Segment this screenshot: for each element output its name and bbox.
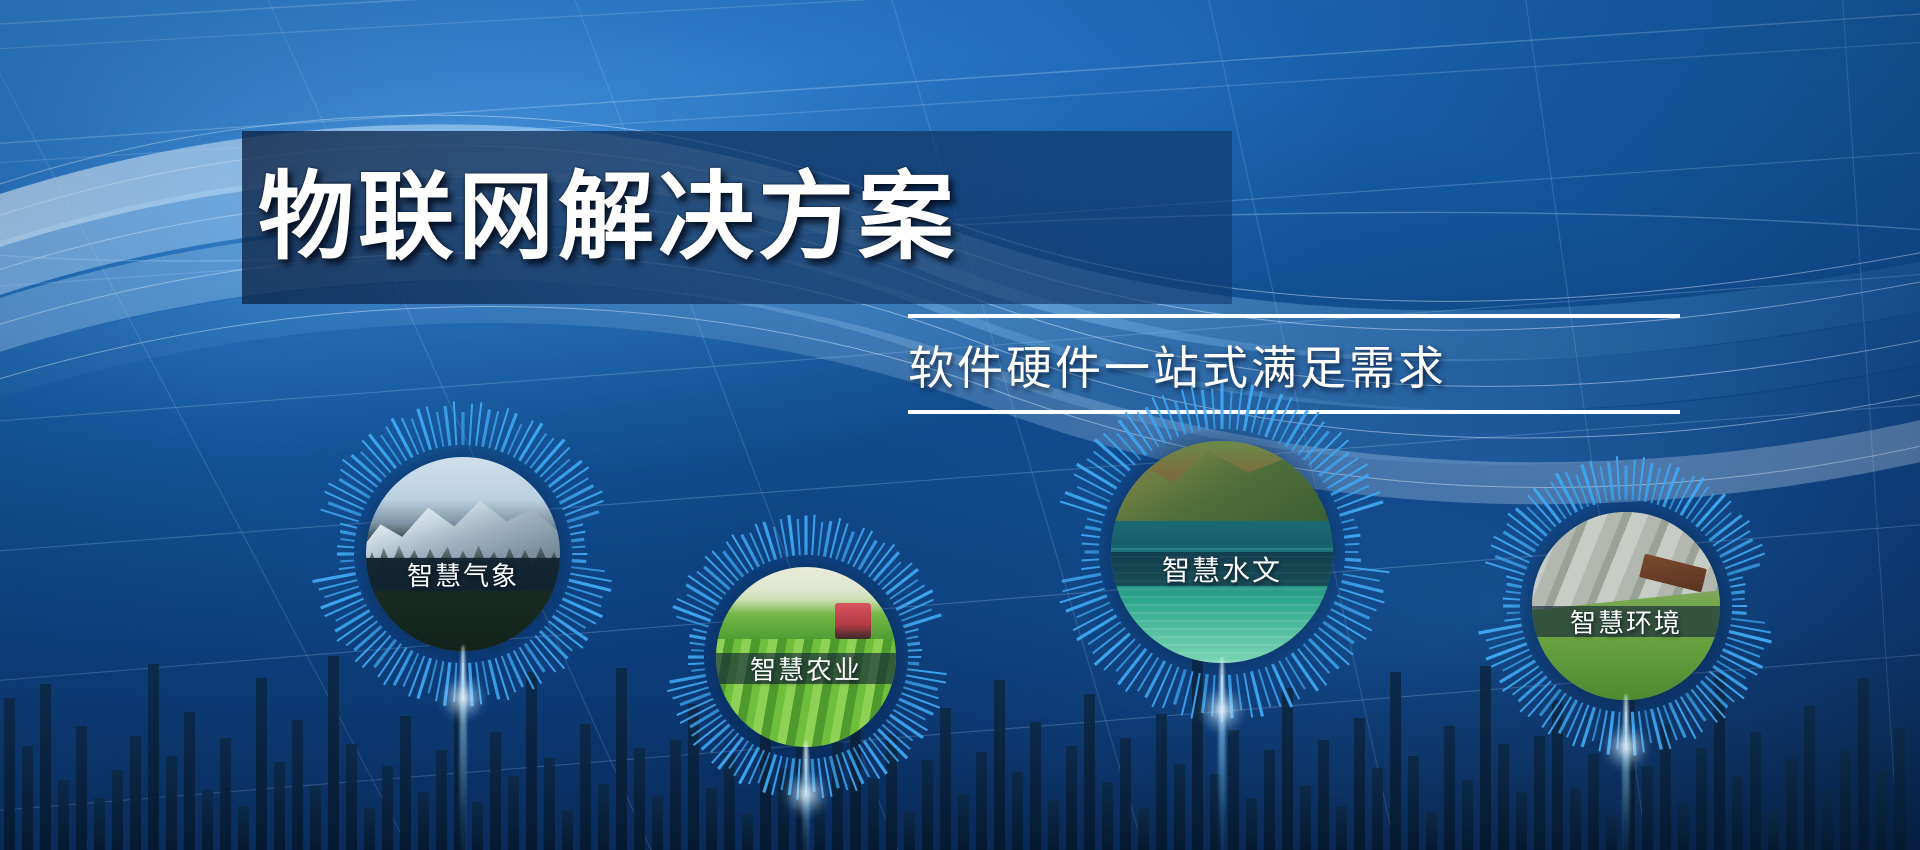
light-beam-glow — [1603, 724, 1649, 770]
light-beam-glow — [783, 771, 829, 817]
light-beam-glow — [440, 675, 486, 721]
solution-node-environment[interactable]: 智慧环境 — [1456, 436, 1796, 776]
title-banner: 物联网解决方案 — [242, 131, 1232, 304]
solution-node-agriculture[interactable]: 智慧农业 — [643, 494, 969, 820]
light-beam-glow — [1199, 687, 1245, 733]
solution-photo-image — [366, 457, 560, 651]
solution-photo-environment[interactable]: 智慧环境 — [1532, 512, 1720, 700]
page-title: 物联网解决方案 — [258, 170, 958, 266]
solution-photo-agriculture[interactable]: 智慧农业 — [716, 567, 896, 747]
solution-node-weather[interactable]: 智慧气象 — [290, 381, 636, 727]
solution-label-weather: 智慧气象 — [366, 558, 560, 591]
solution-label-environment: 智慧环境 — [1532, 606, 1720, 637]
iot-solution-hero-banner: 物联网解决方案 软件硬件一站式满足需求 智慧气象智慧农业智慧水文智慧环境 — [0, 0, 1920, 850]
solution-node-hydrology[interactable]: 智慧水文 — [1032, 362, 1412, 742]
solution-photo-hydrology[interactable]: 智慧水文 — [1111, 441, 1333, 663]
solution-label-agriculture: 智慧农业 — [716, 653, 896, 684]
solution-photo-weather[interactable]: 智慧气象 — [366, 457, 560, 651]
solution-label-hydrology: 智慧水文 — [1111, 552, 1333, 586]
